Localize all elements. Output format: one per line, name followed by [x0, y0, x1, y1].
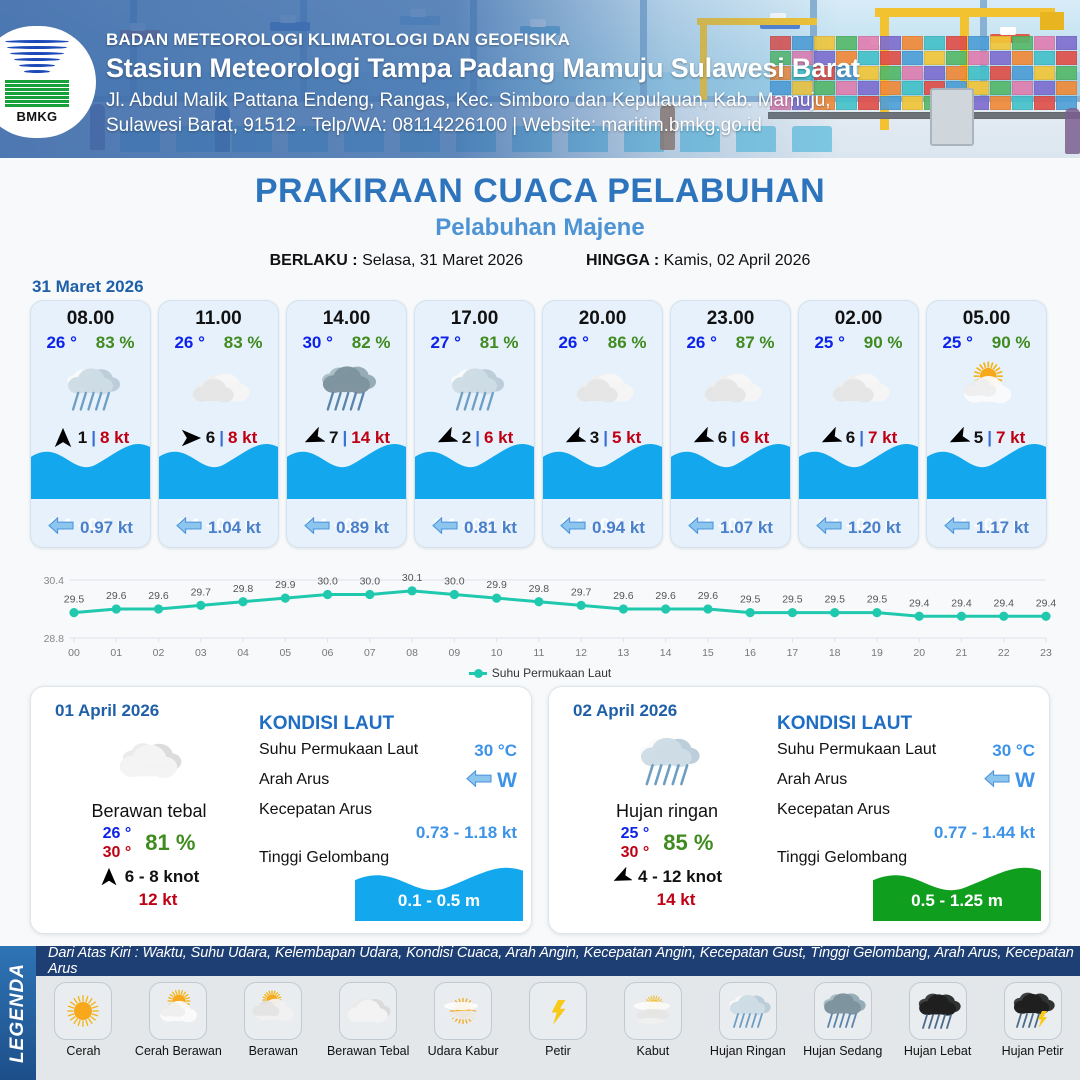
svg-text:11: 11: [533, 647, 544, 659]
card-current-speed: 0.94 kt: [592, 518, 645, 538]
legend-item-label: Petir: [512, 1044, 604, 1058]
svg-text:29.6: 29.6: [698, 590, 719, 602]
svg-text:01: 01: [110, 647, 122, 659]
svg-text:30.1: 30.1: [402, 572, 423, 584]
weather-cloudy-sun-icon: [244, 982, 302, 1040]
card-humidity: 81 %: [480, 333, 519, 353]
daily-temp-min: 26 °: [103, 824, 132, 843]
daily-wave-graphic: 0.5 - 1.25 m: [873, 861, 1041, 921]
card-current: 0.97 kt: [31, 517, 150, 539]
wave-graphic: [287, 437, 406, 499]
weather-fog-icon: [624, 982, 682, 1040]
weather-light-rain-icon: [31, 355, 150, 423]
hourly-card: 11.00 26 ° 83 % 6 | 8 kt 0.1 - 0.5 m 1.0…: [158, 300, 279, 548]
svg-text:29.4: 29.4: [1036, 597, 1056, 609]
sea-conditions: KONDISI LAUT Suhu Permukaan Laut 30 °C A…: [259, 713, 521, 879]
agency-name: BADAN METEOROLOGI KLIMATOLOGI DAN GEOFIS…: [106, 30, 860, 50]
hourly-forecast-row: 08.00 26 ° 83 % 1 | 8 kt 0.1 - 0.5 m 0.9…: [30, 300, 1050, 548]
svg-text:12: 12: [575, 647, 587, 659]
card-current-speed: 0.89 kt: [336, 518, 389, 538]
svg-text:00: 00: [68, 647, 80, 659]
legend-item: Berawan Tebal: [322, 982, 414, 1058]
current-direction-row: Arah Arus W: [777, 771, 1039, 801]
wind-direction-arrow-icon: [612, 867, 632, 887]
svg-text:29.9: 29.9: [275, 579, 296, 591]
daily-temps: 25 ° 30 ° 85 %: [567, 824, 767, 862]
weather-heavy-rain-icon: [909, 982, 967, 1040]
card-current: 1.20 kt: [799, 517, 918, 539]
daily-temp-max: 30 °: [103, 843, 132, 862]
card-values: 26 ° 83 %: [159, 333, 278, 353]
svg-text:29.4: 29.4: [909, 597, 930, 609]
legend-item-label: Hujan Sedang: [797, 1044, 889, 1058]
card-values: 30 ° 82 %: [287, 333, 406, 353]
card-time: 11.00: [159, 308, 278, 330]
sea-conditions-title: KONDISI LAUT: [777, 713, 1039, 735]
svg-text:29.8: 29.8: [233, 583, 254, 595]
legend-item: Hujan Lebat: [892, 982, 984, 1058]
daily-condition: Hujan ringan: [567, 801, 767, 822]
weather-cloudy-icon: [671, 355, 790, 423]
svg-text:29.6: 29.6: [106, 590, 127, 602]
sst-label: Suhu Permukaan Laut: [259, 741, 418, 758]
weather-overcast-icon: [49, 725, 249, 797]
svg-text:07: 07: [364, 647, 376, 659]
card-current-speed: 1.07 kt: [720, 518, 773, 538]
current-direction-text: W: [497, 769, 517, 793]
legend-item-label: Berawan Tebal: [322, 1044, 414, 1058]
card-time: 14.00: [287, 308, 406, 330]
card-values: 26 ° 86 %: [543, 333, 662, 353]
legend-note: Dari Atas Kiri : Waktu, Suhu Udara, Kele…: [36, 946, 1080, 976]
weather-light-rain-icon: [567, 725, 767, 797]
svg-text:29.8: 29.8: [529, 583, 550, 595]
svg-text:17: 17: [787, 647, 799, 659]
daily-wave-value: 0.5 - 1.25 m: [873, 891, 1041, 911]
card-humidity: 82 %: [352, 333, 391, 353]
chart-legend-label: Suhu Permukaan Laut: [492, 666, 611, 680]
legend-item-label: Hujan Petir: [987, 1044, 1079, 1058]
sst-value: 30 °C: [992, 741, 1035, 761]
legend-bar: LEGENDA Dari Atas Kiri : Waktu, Suhu Uda…: [0, 946, 1080, 1080]
svg-text:03: 03: [195, 647, 207, 659]
svg-text:29.5: 29.5: [824, 594, 845, 606]
card-current-speed: 1.04 kt: [208, 518, 261, 538]
card-temperature: 26 °: [174, 333, 204, 353]
card-temperature: 26 °: [46, 333, 76, 353]
weather-overcast-icon: [339, 982, 397, 1040]
card-current-speed: 0.81 kt: [464, 518, 517, 538]
wave-graphic: [799, 437, 918, 499]
current-speed-label: Kecepatan Arus: [259, 801, 372, 818]
hourly-card: 17.00 27 ° 81 % 2 | 6 kt 0.1 - 0.5 m 0.8…: [414, 300, 535, 548]
svg-text:20: 20: [913, 647, 925, 659]
svg-text:30.0: 30.0: [360, 576, 381, 588]
card-values: 25 ° 90 %: [927, 333, 1046, 353]
daily-date: 02 April 2026: [573, 701, 677, 721]
wave-graphic: [31, 437, 150, 499]
legend-item: Petir: [512, 982, 604, 1058]
wave-graphic: [671, 437, 790, 499]
legend-item-label: Hujan Lebat: [892, 1044, 984, 1058]
card-temperature: 27 °: [430, 333, 460, 353]
daily-forecast-card: 02 April 2026 Hujan ringan 25 ° 30 ° 85 …: [548, 686, 1050, 934]
sst-chart: 30.428.829.50029.60129.60229.70329.80429…: [24, 558, 1056, 680]
card-values: 26 ° 83 %: [31, 333, 150, 353]
weather-lightning-icon: [529, 982, 587, 1040]
daily-temp-min: 25 °: [621, 824, 650, 843]
daily-forecast-row: 01 April 2026 Berawan tebal 26 ° 30 ° 81…: [30, 686, 1050, 934]
current-direction-arrow-icon: [466, 770, 492, 792]
weather-cloudy-icon: [543, 355, 662, 423]
current-direction-text: W: [1015, 769, 1035, 793]
current-speed-value: 0.77 - 1.44 kt: [934, 823, 1035, 843]
svg-text:19: 19: [871, 647, 883, 659]
svg-text:30.4: 30.4: [44, 575, 65, 587]
current-direction-value: W: [984, 769, 1035, 793]
current-speed-value: 0.73 - 1.18 kt: [416, 823, 517, 843]
card-current: 1.07 kt: [671, 517, 790, 539]
weather-light-rain-icon: [415, 355, 534, 423]
weather-moderate-rain-icon: [287, 355, 406, 423]
legend-item: Cerah: [37, 982, 129, 1058]
card-time: 20.00: [543, 308, 662, 330]
card-current: 1.17 kt: [927, 517, 1046, 539]
daily-summary: Berawan tebal 26 ° 30 ° 81 % 6 - 8 knot …: [49, 725, 249, 910]
legend-item: Hujan Petir: [987, 982, 1079, 1058]
legend-item: Berawan: [227, 982, 319, 1058]
card-humidity: 83 %: [96, 333, 135, 353]
current-direction-arrow-icon: [560, 517, 586, 539]
hourly-card: 23.00 26 ° 87 % 6 | 6 kt 0.1 - 0.5 m 1.0…: [670, 300, 791, 548]
daily-summary: Hujan ringan 25 ° 30 ° 85 % 4 - 12 knot …: [567, 725, 767, 910]
card-values: 25 ° 90 %: [799, 333, 918, 353]
logo-text: BMKG: [1, 109, 73, 124]
weather-thunderstorm-icon: [1004, 982, 1062, 1040]
card-temperature: 30 °: [302, 333, 332, 353]
header-text-block: BADAN METEOROLOGI KLIMATOLOGI DAN GEOFIS…: [106, 30, 860, 138]
current-direction-value: W: [466, 769, 517, 793]
svg-text:21: 21: [956, 647, 968, 659]
address-line-1: Jl. Abdul Malik Pattana Endeng, Rangas, …: [106, 88, 860, 113]
svg-text:29.5: 29.5: [782, 594, 803, 606]
svg-text:06: 06: [322, 647, 334, 659]
weather-cloudy-icon: [799, 355, 918, 423]
legend-side-label: LEGENDA: [0, 946, 36, 1080]
daily-wind-range: 6 - 8 knot: [125, 867, 200, 887]
svg-text:02: 02: [153, 647, 165, 659]
svg-text:29.4: 29.4: [994, 597, 1015, 609]
daily-forecast-card: 01 April 2026 Berawan tebal 26 ° 30 ° 81…: [30, 686, 532, 934]
weather-partly-cloudy-icon: [927, 355, 1046, 423]
card-time: 23.00: [671, 308, 790, 330]
weather-moderate-rain-icon: [814, 982, 872, 1040]
svg-text:29.6: 29.6: [148, 590, 169, 602]
card-temperature: 26 °: [558, 333, 588, 353]
sst-label: Suhu Permukaan Laut: [777, 741, 936, 758]
daily-gust: 14 kt: [585, 890, 767, 910]
legend-item-label: Cerah Berawan: [132, 1044, 224, 1058]
svg-text:13: 13: [618, 647, 630, 659]
sst-row: Suhu Permukaan Laut 30 °C: [777, 741, 1039, 771]
card-time: 08.00: [31, 308, 150, 330]
title-block: PRAKIRAAN CUACA PELABUHAN Pelabuhan Maje…: [0, 172, 1080, 270]
hingga-label: HINGGA :: [586, 252, 659, 269]
legend-item-label: Udara Kabur: [417, 1044, 509, 1058]
weather-haze-icon: [434, 982, 492, 1040]
card-time: 17.00: [415, 308, 534, 330]
weather-light-rain-icon: [719, 982, 777, 1040]
weather-cloudy-icon: [159, 355, 278, 423]
hourly-card: 14.00 30 ° 82 % 7 | 14 kt 0.1 - 0.5 m 0.…: [286, 300, 407, 548]
address-line-2: Sulawesi Barat, 91512 . Telp/WA: 0811422…: [106, 113, 860, 138]
card-current-speed: 0.97 kt: [80, 518, 133, 538]
current-direction-arrow-icon: [688, 517, 714, 539]
logo-arc-icon: [5, 40, 69, 80]
legend-item-label: Hujan Ringan: [702, 1044, 794, 1058]
current-direction-arrow-icon: [984, 770, 1010, 792]
svg-text:30.0: 30.0: [317, 576, 338, 588]
svg-text:29.5: 29.5: [867, 594, 888, 606]
hingga-value: Kamis, 02 April 2026: [664, 252, 811, 269]
legend-item-label: Berawan: [227, 1044, 319, 1058]
page-subtitle: Pelabuhan Majene: [0, 214, 1080, 242]
svg-text:29.7: 29.7: [571, 586, 592, 598]
daily-date: 01 April 2026: [55, 701, 159, 721]
daily-wind: 6 - 8 knot: [49, 867, 249, 887]
svg-text:14: 14: [660, 647, 672, 659]
svg-text:16: 16: [744, 647, 756, 659]
legend-item-label: Kabut: [607, 1044, 699, 1058]
svg-text:08: 08: [406, 647, 418, 659]
svg-text:29.5: 29.5: [740, 594, 761, 606]
sea-conditions: KONDISI LAUT Suhu Permukaan Laut 30 °C A…: [777, 713, 1039, 879]
card-humidity: 83 %: [224, 333, 263, 353]
chart-legend: Suhu Permukaan Laut: [0, 666, 1080, 680]
svg-text:04: 04: [237, 647, 249, 659]
card-time: 02.00: [799, 308, 918, 330]
card-current: 0.94 kt: [543, 517, 662, 539]
svg-text:29.6: 29.6: [655, 590, 676, 602]
hourly-card: 20.00 26 ° 86 % 3 | 5 kt 0.1 - 0.5 m 0.9…: [542, 300, 663, 548]
forecast-date-label: 31 Maret 2026: [32, 277, 144, 297]
berlaku-value: Selasa, 31 Maret 2026: [362, 252, 523, 269]
card-values: 27 ° 81 %: [415, 333, 534, 353]
daily-gust: 12 kt: [67, 890, 249, 910]
chart-legend-marker-icon: [469, 672, 487, 675]
legend-side-text: LEGENDA: [7, 963, 29, 1063]
current-speed-row: Kecepatan Arus 0.77 - 1.44 kt: [777, 801, 1039, 849]
current-direction-arrow-icon: [48, 517, 74, 539]
page-header: BMKG BADAN METEOROLOGI KLIMATOLOGI DAN G…: [0, 0, 1080, 158]
sea-conditions-title: KONDISI LAUT: [259, 713, 521, 735]
current-direction-arrow-icon: [944, 517, 970, 539]
card-humidity: 86 %: [608, 333, 647, 353]
daily-wave-graphic: 0.1 - 0.5 m: [355, 861, 523, 921]
current-direction-label: Arah Arus: [259, 771, 329, 788]
current-direction-row: Arah Arus W: [259, 771, 521, 801]
svg-text:30.0: 30.0: [444, 576, 465, 588]
daily-wind: 4 - 12 knot: [567, 867, 767, 887]
wave-graphic: [415, 437, 534, 499]
svg-text:18: 18: [829, 647, 841, 659]
current-speed-label: Kecepatan Arus: [777, 801, 890, 818]
svg-text:29.5: 29.5: [64, 594, 85, 606]
hourly-card: 05.00 25 ° 90 % 5 | 7 kt 0.1 - 0.5 m 1.1…: [926, 300, 1047, 548]
berlaku-label: BERLAKU :: [270, 252, 358, 269]
legend-item: Hujan Ringan: [702, 982, 794, 1058]
svg-text:29.6: 29.6: [613, 590, 634, 602]
current-direction-label: Arah Arus: [777, 771, 847, 788]
card-values: 26 ° 87 %: [671, 333, 790, 353]
wind-direction-arrow-icon: [99, 867, 119, 887]
card-temperature: 25 °: [814, 333, 844, 353]
wave-graphic: [543, 437, 662, 499]
svg-text:05: 05: [279, 647, 291, 659]
hourly-card: 08.00 26 ° 83 % 1 | 8 kt 0.1 - 0.5 m 0.9…: [30, 300, 151, 548]
card-current: 0.89 kt: [287, 517, 406, 539]
sst-value: 30 °C: [474, 741, 517, 761]
svg-text:10: 10: [491, 647, 503, 659]
daily-temp-max: 30 °: [621, 843, 650, 862]
wave-graphic: [927, 437, 1046, 499]
daily-condition: Berawan tebal: [49, 801, 249, 822]
legend-item: Udara Kabur: [417, 982, 509, 1058]
daily-humidity: 81 %: [145, 830, 195, 856]
svg-text:15: 15: [702, 647, 714, 659]
validity-row: BERLAKU : Selasa, 31 Maret 2026 HINGGA :…: [0, 252, 1080, 270]
card-humidity: 90 %: [992, 333, 1031, 353]
legend-item: Hujan Sedang: [797, 982, 889, 1058]
svg-text:09: 09: [449, 647, 461, 659]
weather-sunny-icon: [54, 982, 112, 1040]
legend-items: Cerah Cerah Berawan Berawan Berawan Teba…: [36, 976, 1080, 1080]
daily-humidity: 85 %: [663, 830, 713, 856]
hourly-card: 02.00 25 ° 90 % 6 | 7 kt 0.1 - 0.5 m 1.2…: [798, 300, 919, 548]
svg-text:29.4: 29.4: [951, 597, 972, 609]
card-humidity: 87 %: [736, 333, 775, 353]
legend-item: Kabut: [607, 982, 699, 1058]
svg-text:29.9: 29.9: [486, 579, 507, 591]
daily-wind-range: 4 - 12 knot: [638, 867, 722, 887]
card-temperature: 25 °: [942, 333, 972, 353]
card-current-speed: 1.20 kt: [848, 518, 901, 538]
wave-graphic: [159, 437, 278, 499]
card-current: 1.04 kt: [159, 517, 278, 539]
current-direction-arrow-icon: [176, 517, 202, 539]
current-direction-arrow-icon: [816, 517, 842, 539]
current-direction-arrow-icon: [304, 517, 330, 539]
station-name: Stasiun Meteorologi Tampa Padang Mamuju …: [106, 53, 860, 84]
svg-text:28.8: 28.8: [44, 633, 65, 645]
weather-partly-cloudy-icon: [149, 982, 207, 1040]
logo-wave-icon: [5, 80, 69, 108]
card-time: 05.00: [927, 308, 1046, 330]
current-speed-row: Kecepatan Arus 0.73 - 1.18 kt: [259, 801, 521, 849]
svg-text:23: 23: [1040, 647, 1052, 659]
svg-text:22: 22: [998, 647, 1010, 659]
daily-wave-value: 0.1 - 0.5 m: [355, 891, 523, 911]
svg-text:29.7: 29.7: [191, 586, 212, 598]
current-direction-arrow-icon: [432, 517, 458, 539]
legend-item-label: Cerah: [37, 1044, 129, 1058]
sst-row: Suhu Permukaan Laut 30 °C: [259, 741, 521, 771]
page-title: PRAKIRAAN CUACA PELABUHAN: [0, 172, 1080, 211]
daily-temps: 26 ° 30 ° 81 %: [49, 824, 249, 862]
card-current: 0.81 kt: [415, 517, 534, 539]
card-current-speed: 1.17 kt: [976, 518, 1029, 538]
card-humidity: 90 %: [864, 333, 903, 353]
legend-item: Cerah Berawan: [132, 982, 224, 1058]
card-temperature: 26 °: [686, 333, 716, 353]
